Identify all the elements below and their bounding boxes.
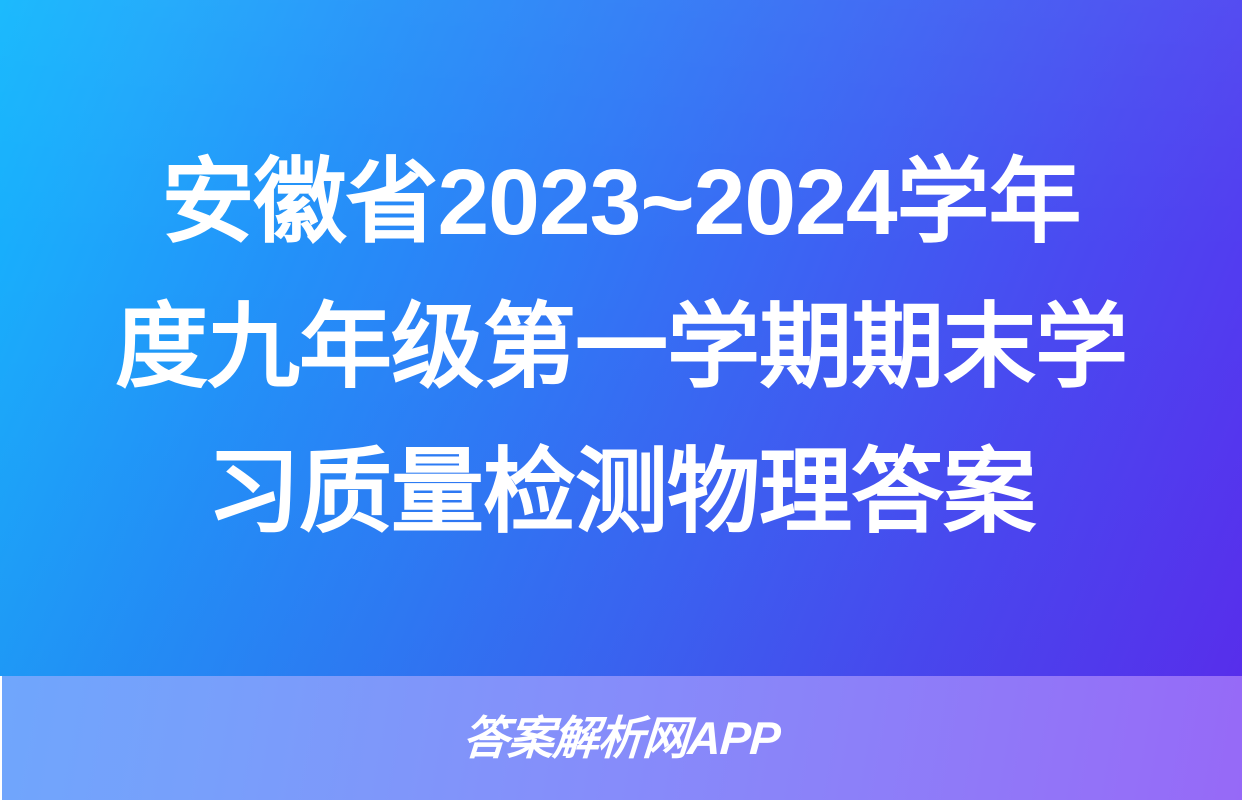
page-title: 安徽省2023~2024学年 度九年级第一学期期末学 习质量检测物理答案 bbox=[115, 130, 1127, 565]
footer-brand-label: 答案解析网APP bbox=[461, 715, 781, 761]
page-title-line-2: 度九年级第一学期期末学 bbox=[115, 275, 1127, 420]
page-title-line-1: 安徽省2023~2024学年 bbox=[115, 130, 1127, 275]
footer-brand-band: 答案解析网APP bbox=[0, 676, 1242, 800]
poster-canvas: 安徽省2023~2024学年 度九年级第一学期期末学 习质量检测物理答案 答案解… bbox=[0, 0, 1242, 800]
title-block: 安徽省2023~2024学年 度九年级第一学期期末学 习质量检测物理答案 bbox=[0, 0, 1242, 676]
footer-left-edge-sliver bbox=[0, 676, 2, 800]
page-title-line-3: 习质量检测物理答案 bbox=[115, 420, 1127, 565]
